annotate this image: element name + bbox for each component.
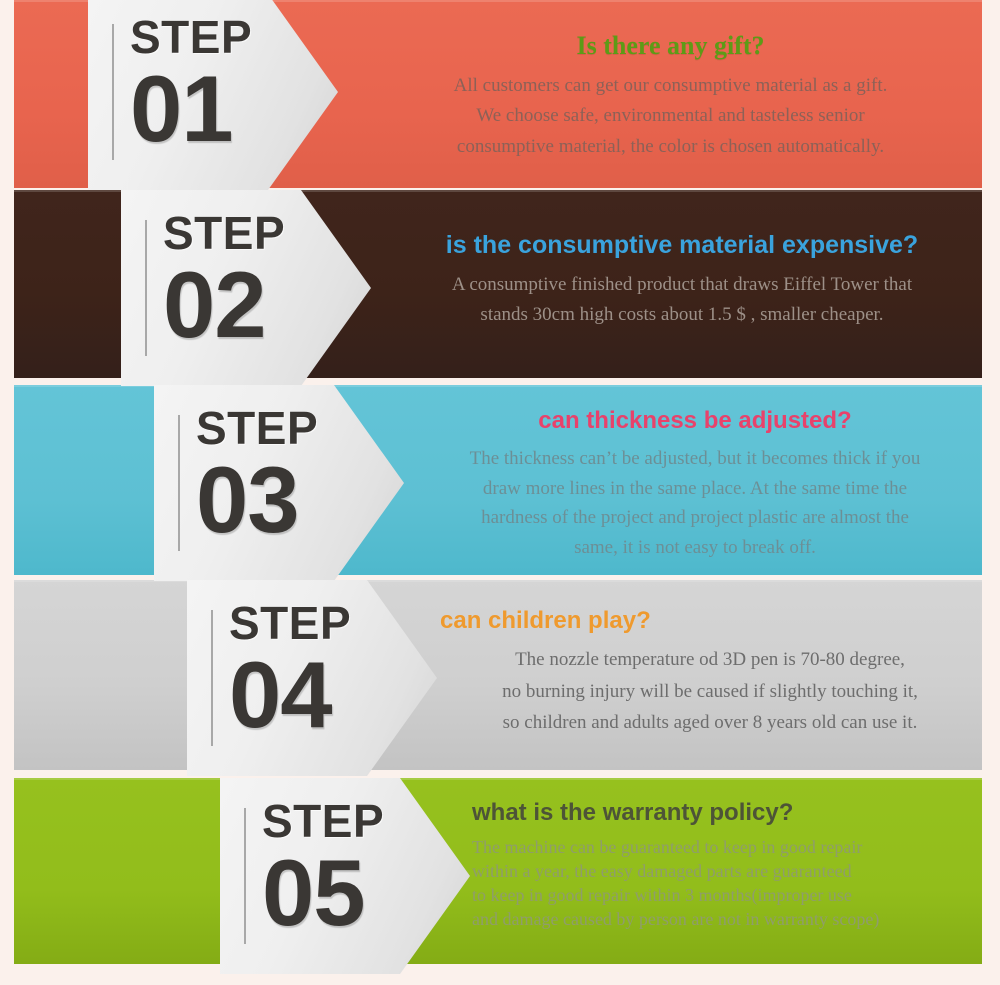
step-marker-text-3: STEP 03	[196, 405, 346, 547]
step-label-1: STEP	[130, 14, 280, 60]
step-answer-4: The nozzle temperature od 3D pen is 70-8…	[440, 644, 980, 739]
answer-line: no burning injury will be caused if slig…	[440, 676, 980, 708]
step-copy-5: what is the warranty policy? The machine…	[472, 800, 972, 931]
answer-line: and damage caused by person are not in w…	[472, 908, 972, 932]
step-rule-icon	[145, 220, 147, 356]
step-label-3: STEP	[196, 405, 346, 451]
step-number-2: 02	[163, 258, 313, 352]
step-question-5: what is the warranty policy?	[472, 800, 972, 826]
step-rule-icon	[211, 610, 213, 746]
step-question-3: can thickness be adjusted?	[410, 408, 980, 434]
answer-line: same, it is not easy to break off.	[410, 533, 980, 562]
answer-line: to keep in good repair within 3 months(i…	[472, 884, 972, 908]
step-copy-1: Is there any gift? All customers can get…	[358, 32, 983, 163]
step-copy-2: is the consumptive material expensive? A…	[386, 232, 978, 331]
step-answer-5: The machine can be guaranteed to keep in…	[472, 836, 972, 931]
step-rule-icon	[244, 808, 246, 944]
step-label-5: STEP	[262, 798, 412, 844]
answer-line: within a year, the easy damaged parts ar…	[472, 860, 972, 884]
answer-line: All customers can get our consumptive ma…	[358, 71, 983, 102]
step-rule-icon	[112, 24, 114, 160]
step-label-2: STEP	[163, 210, 313, 256]
step-marker-text-2: STEP 02	[163, 210, 313, 352]
answer-line: stands 30cm high costs about 1.5 $ , sma…	[386, 300, 978, 331]
step-question-2: is the consumptive material expensive?	[386, 232, 978, 260]
step-answer-1: All customers can get our consumptive ma…	[358, 71, 983, 163]
answer-line: We choose safe, environmental and tastel…	[358, 101, 983, 132]
step-label-4: STEP	[229, 600, 379, 646]
step-copy-4: can children play? The nozzle temperatur…	[440, 608, 980, 739]
step-question-4: can children play?	[440, 608, 980, 634]
step-number-3: 03	[196, 453, 346, 547]
faq-steps-infographic: STEP 01 STEP 02 STEP 03 STEP 04 STEP 05	[0, 0, 1000, 985]
step-rule-icon	[178, 415, 180, 551]
step-number-5: 05	[262, 846, 412, 940]
step-copy-3: can thickness be adjusted? The thickness…	[410, 408, 980, 562]
step-number-4: 04	[229, 648, 379, 742]
step-marker-text-5: STEP 05	[262, 798, 412, 940]
answer-line: The nozzle temperature od 3D pen is 70-8…	[440, 644, 980, 676]
answer-line: hardness of the project and project plas…	[410, 503, 980, 532]
step-number-1: 01	[130, 62, 280, 156]
answer-line: The machine can be guaranteed to keep in…	[472, 836, 972, 860]
answer-line: A consumptive finished product that draw…	[386, 270, 978, 301]
answer-line: draw more lines in the same place. At th…	[410, 474, 980, 503]
step-question-1: Is there any gift?	[358, 32, 983, 61]
answer-line: consumptive material, the color is chose…	[358, 132, 983, 163]
step-answer-2: A consumptive finished product that draw…	[386, 270, 978, 332]
answer-line: The thickness can’t be adjusted, but it …	[410, 444, 980, 473]
step-marker-text-1: STEP 01	[130, 14, 280, 156]
step-marker-text-4: STEP 04	[229, 600, 379, 742]
step-answer-3: The thickness can’t be adjusted, but it …	[410, 444, 980, 562]
answer-line: so children and adults aged over 8 years…	[440, 707, 980, 739]
